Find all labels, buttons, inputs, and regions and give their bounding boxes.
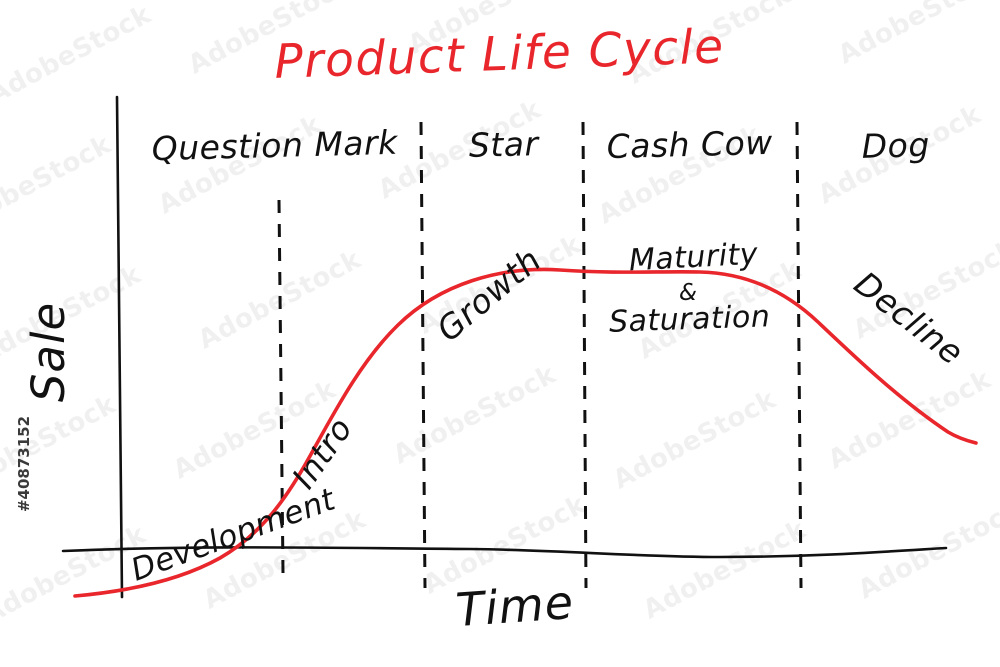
- segment-label-dog: Dog: [861, 125, 930, 166]
- divider-3: [583, 122, 586, 588]
- divider-2: [421, 122, 425, 588]
- segment-label-question-mark: Question Mark: [151, 123, 399, 168]
- page-title: Product Life Cycle: [273, 19, 725, 90]
- stage-label-intro: Intro: [284, 410, 360, 495]
- stage-label-decline: Decline: [847, 264, 971, 373]
- divider-4: [797, 122, 801, 588]
- stage-label-development: Development: [126, 481, 341, 589]
- product-life-cycle-figure: AdobeStock AdobeStock AdobeStock AdobeSt…: [0, 0, 1000, 667]
- x-axis-label: Time: [454, 575, 575, 637]
- stage-label-maturity-saturation: Maturity & Saturation: [608, 237, 771, 340]
- stage-label-saturation: Saturation: [608, 299, 771, 340]
- stage-label-growth: Growth: [429, 240, 548, 349]
- y-axis-line: [117, 97, 122, 597]
- y-axis-label: Sale: [22, 302, 75, 402]
- segment-label-star: Star: [468, 124, 541, 165]
- segment-label-cash-cow: Cash Cow: [606, 123, 774, 166]
- chart-canvas: Product Life Cycle Sale Time Question Ma…: [0, 0, 1000, 667]
- stage-label-maturity: Maturity: [628, 237, 760, 279]
